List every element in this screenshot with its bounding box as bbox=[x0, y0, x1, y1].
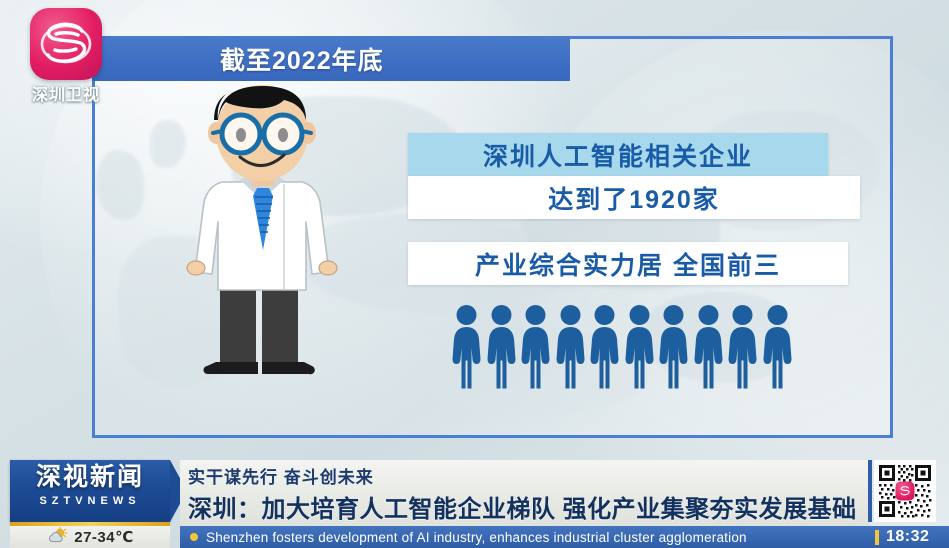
station-logo: 深圳卫视 bbox=[20, 8, 112, 105]
person-icon bbox=[659, 304, 688, 390]
headline-panel: 实干谋先行 奋斗创未来 深圳：加大培育人工智能企业梯队 强化产业集聚夯实发展基础 bbox=[180, 460, 870, 526]
news-brand-en: SZTVNEWS bbox=[10, 495, 170, 507]
bullet-dot-icon bbox=[190, 533, 198, 541]
statistic-card: 达到了1920家 bbox=[408, 176, 860, 219]
infographic-title-bar: 截至2022年底 bbox=[92, 36, 570, 81]
person-icon bbox=[763, 304, 792, 390]
english-subtitle-text: Shenzhen fosters development of AI indus… bbox=[206, 530, 747, 545]
statistic-cards: 深圳人工智能相关企业 达到了1920家 产业综合实力居 全国前三 bbox=[408, 133, 860, 285]
person-icon bbox=[452, 304, 481, 390]
qr-accent-bar bbox=[868, 460, 872, 522]
clock-tick-icon bbox=[875, 530, 879, 545]
english-subtitle-bar: Shenzhen fosters development of AI indus… bbox=[180, 526, 870, 548]
person-icon bbox=[590, 304, 619, 390]
sztv-s-logo-icon bbox=[30, 8, 102, 80]
clock-time: 18:32 bbox=[886, 528, 929, 546]
headline-kicker: 实干谋先行 奋斗创未来 bbox=[188, 460, 870, 488]
people-icon-row bbox=[452, 302, 792, 390]
broadcast-screen: 深圳卫视 截至2022年底 bbox=[0, 0, 949, 548]
weather-temperature: 27-34℃ bbox=[74, 528, 134, 546]
person-icon bbox=[556, 304, 585, 390]
station-name: 深圳卫视 bbox=[20, 81, 112, 105]
scientist-character bbox=[170, 78, 355, 390]
weather-widget: 27-34℃ bbox=[10, 526, 170, 548]
person-icon bbox=[487, 304, 516, 390]
person-icon bbox=[521, 304, 550, 390]
statistic-card: 深圳人工智能相关企业 bbox=[408, 133, 828, 176]
statistic-card: 产业综合实力居 全国前三 bbox=[408, 242, 848, 285]
person-icon bbox=[728, 304, 757, 390]
qr-code-icon[interactable] bbox=[874, 460, 936, 522]
person-icon bbox=[694, 304, 723, 390]
headline-text: 深圳：加大培育人工智能企业梯队 强化产业集聚夯实发展基础 bbox=[188, 489, 870, 524]
clock-widget: 18:32 bbox=[868, 526, 949, 548]
sun-behind-cloud-icon bbox=[46, 527, 68, 548]
person-icon bbox=[625, 304, 654, 390]
news-brand-cn: 深视新闻 bbox=[10, 460, 170, 490]
news-brand-logo: 深视新闻 SZTVNEWS bbox=[10, 460, 170, 522]
qr-center-logo-icon bbox=[896, 482, 915, 501]
page-title: 截至2022年底 bbox=[220, 41, 384, 77]
lower-third: 深视新闻 SZTVNEWS 27-34℃ 实干谋先行 奋斗创未来 深圳：加大培育… bbox=[0, 450, 949, 548]
